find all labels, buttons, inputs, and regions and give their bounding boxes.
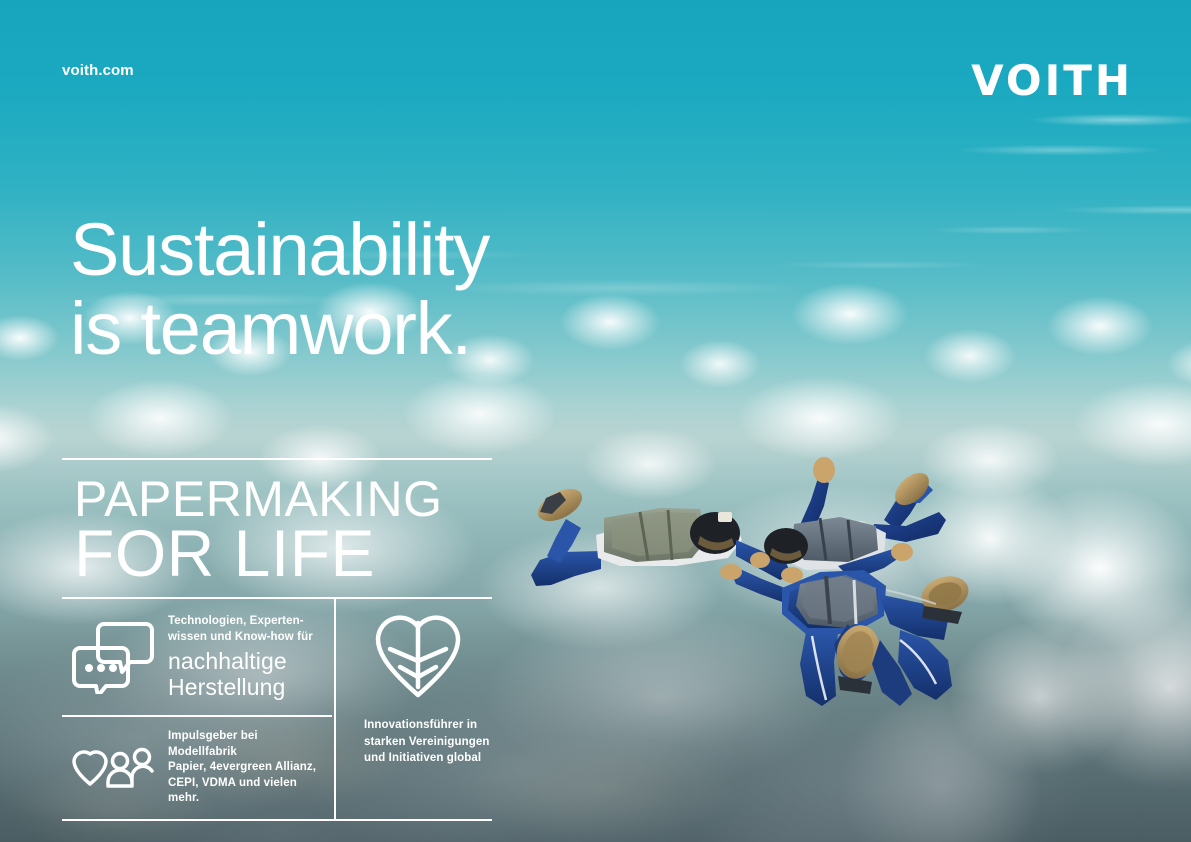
campaign-title: PAPERMAKING FOR LIFE: [62, 460, 492, 597]
voith-logo: VOITH: [971, 60, 1133, 102]
poster-canvas: voith.com VOITH Sustainability is teamwo…: [0, 0, 1191, 842]
feature-lead-text: Innovationsführer in starken Vereinigung…: [364, 717, 489, 766]
feature-panels: Technologien, Experten- wissen und Know-…: [62, 599, 492, 819]
feature-column-right: Innovationsführer in starken Vereinigung…: [334, 599, 492, 819]
feature-lead-text: Impulsgeber bei Modellfabrik Papier, 4ev…: [168, 729, 328, 807]
leaf-icon-wrap: [364, 609, 464, 701]
heart-people-icon: [72, 746, 154, 790]
site-url-link[interactable]: voith.com: [62, 62, 134, 79]
feature-lead-text: Technologien, Experten- wissen und Know-…: [168, 614, 313, 645]
leaf-heart-icon: [372, 609, 464, 701]
speech-bubbles-icon: [72, 620, 154, 694]
feature-emphasis-text: nachhaltige Herstellung: [168, 648, 313, 700]
rule-bottom: [62, 819, 492, 821]
feature-item-associations: Impulsgeber bei Modellfabrik Papier, 4ev…: [62, 717, 334, 819]
page-title: Sustainability is teamwork.: [70, 210, 489, 368]
campaign-block: PAPERMAKING FOR LIFE Technologien, E: [62, 458, 492, 821]
skydiver-left: [531, 482, 803, 586]
feature-text-block: Technologien, Experten- wissen und Know-…: [168, 614, 313, 700]
campaign-title-line2: FOR LIFE: [74, 520, 492, 587]
feature-column-left: Technologien, Experten- wissen und Know-…: [62, 599, 334, 819]
skydiver-middle: [750, 457, 946, 570]
feature-item-sustainable-manufacturing: Technologien, Experten- wissen und Know-…: [62, 599, 334, 715]
